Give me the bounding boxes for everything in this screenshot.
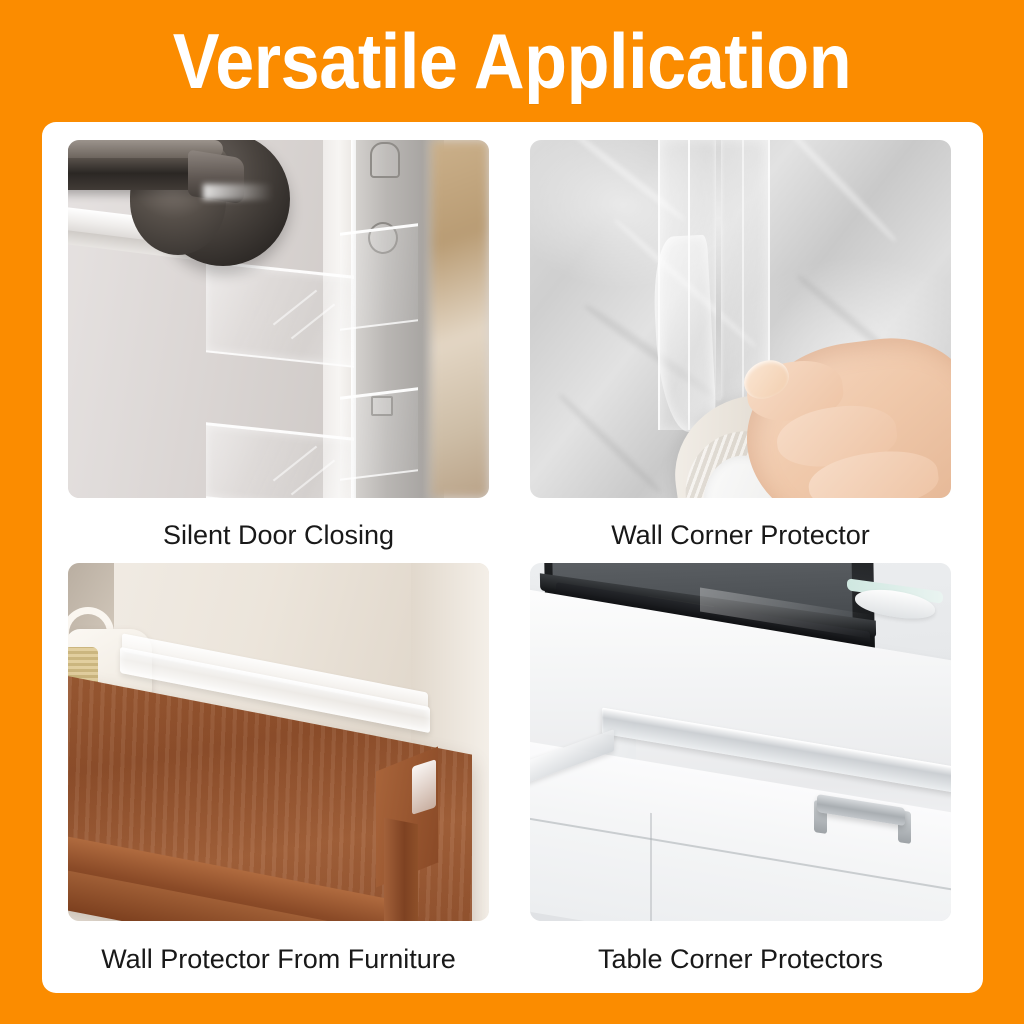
photo-wall-protector-from-furniture [68, 563, 489, 921]
protector-strip-end-cap [412, 759, 436, 815]
tile-caption: Table Corner Protectors [530, 945, 951, 975]
corner-guard-fold-upper [340, 223, 418, 331]
photo-table-corner-protectors [530, 563, 951, 921]
door-detail-slot [370, 142, 400, 178]
corner-guard-strip-upper [206, 260, 354, 368]
feature-tile-wall-protector-from-furniture[interactable]: Wall Protector From Furniture [68, 563, 489, 975]
corner-guard-fold-lower [340, 387, 418, 481]
feature-tile-table-corner-protectors[interactable]: Table Corner Protectors [530, 563, 951, 975]
tile-caption: Wall Corner Protector [530, 521, 951, 551]
tile-caption: Silent Door Closing [68, 521, 489, 551]
photo-wall-corner-protector [530, 140, 951, 498]
header-banner: Versatile Application [0, 0, 1024, 122]
tile-caption: Wall Protector From Furniture [68, 945, 489, 975]
content-card: Silent Door Closing [42, 122, 983, 993]
feature-tile-silent-door-closing[interactable]: Silent Door Closing [68, 140, 489, 551]
table-leg [384, 818, 418, 921]
photo-silent-door-closing [68, 140, 489, 498]
blurred-background [431, 140, 489, 498]
feature-tile-wall-corner-protector[interactable]: Wall Corner Protector [530, 140, 951, 551]
feature-grid: Silent Door Closing [68, 140, 957, 980]
page-title: Versatile Application [173, 22, 851, 100]
door-handle-highlight [203, 184, 273, 200]
drawer-seam-vertical [650, 813, 652, 921]
